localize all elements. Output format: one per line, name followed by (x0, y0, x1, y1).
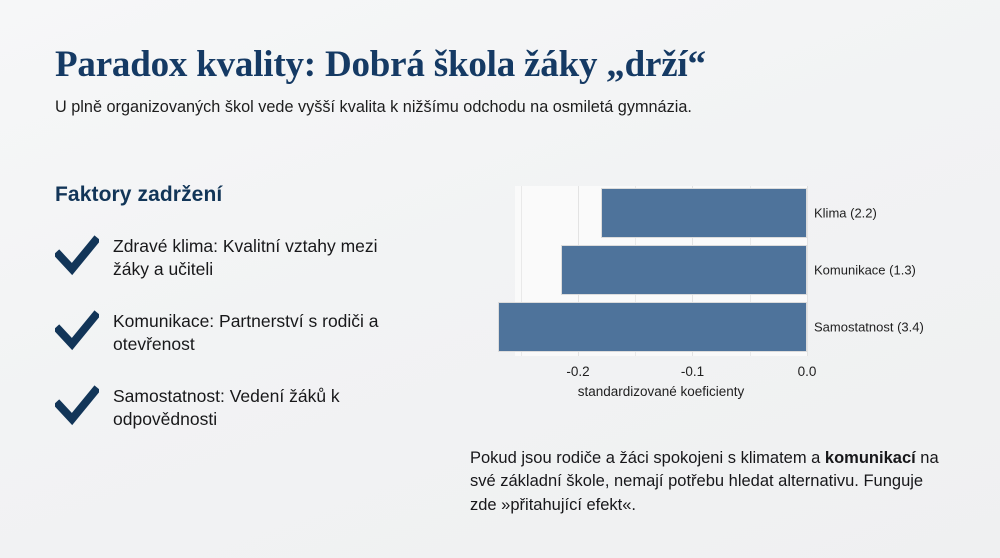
check-icon (55, 308, 99, 354)
factor-text: Zdravé klima: Kvalitní vztahy mezi žáky … (113, 233, 413, 281)
slide-root: Paradox kvality: Dobrá škola žáky „drží“… (0, 0, 1000, 558)
bar (561, 245, 807, 295)
bars-layer (515, 186, 807, 356)
list-item: Komunikace: Partnerství s rodiči a otevř… (55, 308, 455, 356)
x-tick-label: -0.1 (681, 364, 704, 379)
x-tick-label: 0.0 (798, 364, 817, 379)
factors-panel: Faktory zadržení Zdravé klima: Kvalitní … (55, 183, 455, 432)
conclusion-emphasis: komunikací (825, 449, 916, 467)
factors-list: Zdravé klima: Kvalitní vztahy mezi žáky … (55, 233, 455, 432)
check-icon (55, 233, 99, 279)
x-tick-label: -0.2 (566, 364, 589, 379)
bar-label: Klima (2.2) (814, 206, 877, 221)
slide-subtitle: U plně organizovaných škol vede vyšší kv… (55, 97, 942, 118)
chart-panel: Klima (2.2)Komunikace (1.3)Samostatnost … (470, 178, 970, 413)
conclusion-part1: Pokud jsou rodiče a žáci spokojeni s kli… (470, 449, 825, 467)
conclusion-text: Pokud jsou rodiče a žáci spokojeni s kli… (470, 447, 940, 518)
factor-text: Komunikace: Partnerství s rodiči a otevř… (113, 308, 413, 356)
check-icon (55, 383, 99, 429)
plot-area (515, 186, 807, 356)
slide-header: Paradox kvality: Dobrá škola žáky „drží“… (55, 44, 955, 118)
x-axis-title: standardizované koeficienty (515, 384, 807, 399)
bar-label: Komunikace (1.3) (814, 263, 916, 278)
page-title: Paradox kvality: Dobrá škola žáky „drží“ (55, 44, 955, 85)
list-item: Zdravé klima: Kvalitní vztahy mezi žáky … (55, 233, 455, 281)
bar (498, 302, 807, 352)
bar-label: Samostatnost (3.4) (814, 320, 924, 335)
bar-chart: Klima (2.2)Komunikace (1.3)Samostatnost … (470, 178, 970, 413)
factor-text: Samostatnost: Vedení žáků k odpovědnosti (113, 383, 413, 431)
list-item: Samostatnost: Vedení žáků k odpovědnosti (55, 383, 455, 431)
gridline (807, 186, 808, 356)
factors-heading: Faktory zadržení (55, 183, 455, 207)
bar (601, 188, 807, 238)
